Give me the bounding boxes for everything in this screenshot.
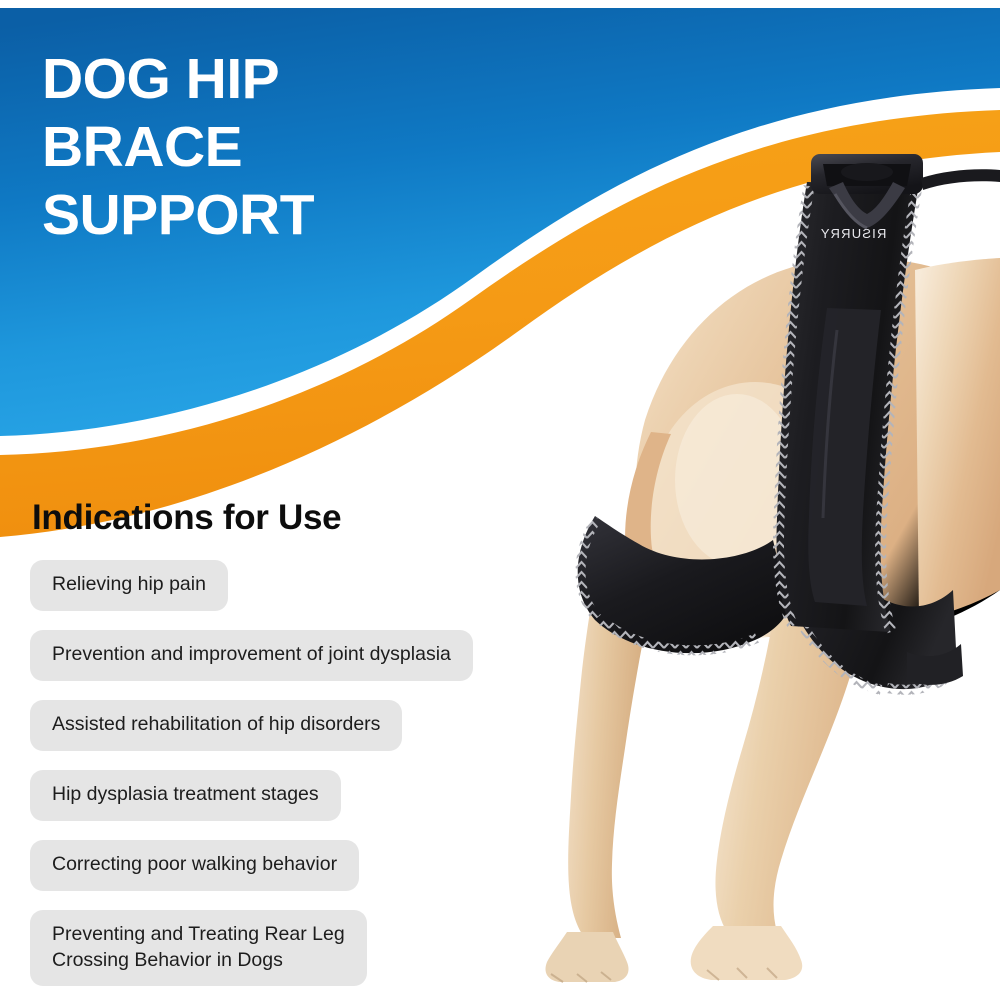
list-item-row: Relieving hip pain <box>30 560 510 630</box>
list-item: Assisted rehabilitation of hip disorders <box>30 700 402 751</box>
brand-label: RISURRY <box>820 226 887 241</box>
list-item-row: Preventing and Treating Rear Leg Crossin… <box>30 910 510 1000</box>
list-item-row: Assisted rehabilitation of hip disorders <box>30 700 510 770</box>
brace-strap-tail <box>921 169 1000 190</box>
indications-section: Indications for Use Relieving hip pain P… <box>30 498 510 1000</box>
dog-back-right <box>915 258 1000 620</box>
product-photo: RISURRY <box>455 120 1000 1000</box>
page-title: DOG HIP BRACE SUPPORT <box>42 46 472 249</box>
list-item-row: Hip dysplasia treatment stages <box>30 770 510 840</box>
indications-title: Indications for Use <box>32 498 510 538</box>
dog-paw-far <box>546 932 629 982</box>
list-item: Prevention and improvement of joint dysp… <box>30 630 473 681</box>
product-poster: DOG HIP BRACE SUPPORT <box>0 0 1000 1000</box>
list-item-row: Correcting poor walking behavior <box>30 840 510 910</box>
dog-paw-near <box>691 926 803 980</box>
list-item: Correcting poor walking behavior <box>30 840 359 891</box>
list-item-row: Prevention and improvement of joint dysp… <box>30 630 510 700</box>
list-item: Preventing and Treating Rear Leg Crossin… <box>30 910 367 987</box>
list-item: Hip dysplasia treatment stages <box>30 770 341 821</box>
list-item: Relieving hip pain <box>30 560 228 611</box>
